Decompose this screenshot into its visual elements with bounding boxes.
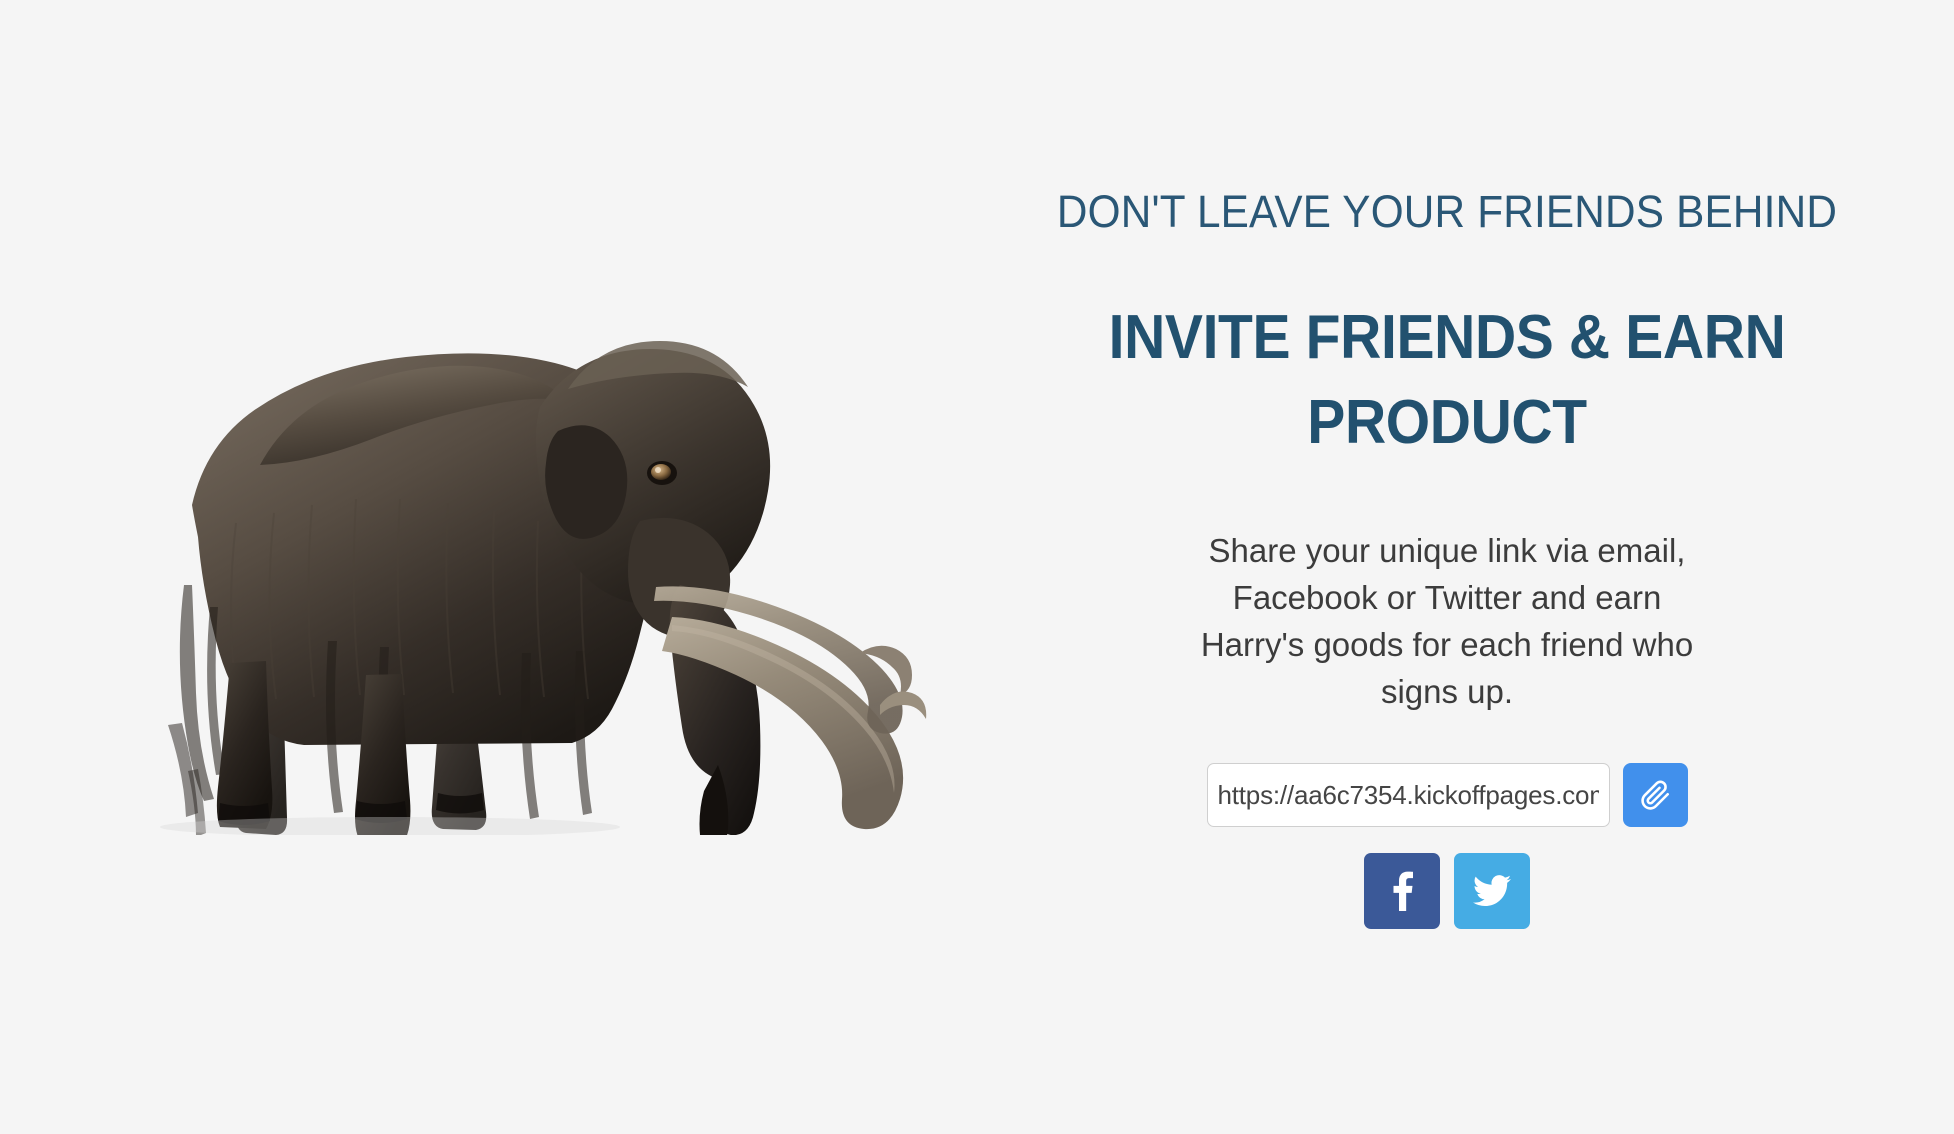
referral-content-column: DON'T LEAVE YOUR FRIENDS BEHIND INVITE F…: [940, 0, 1954, 1134]
mammoth-icon: [60, 255, 940, 835]
referral-share-page: DON'T LEAVE YOUR FRIENDS BEHIND INVITE F…: [0, 0, 1954, 1134]
eyebrow-heading: DON'T LEAVE YOUR FRIENDS BEHIND: [1015, 187, 1880, 237]
hero-illustration-area: [0, 0, 940, 1134]
facebook-icon: [1392, 871, 1413, 911]
subcopy-text: Share your unique link via email, Facebo…: [987, 528, 1907, 715]
mammoth-illustration: [60, 255, 940, 835]
copy-link-button[interactable]: [1623, 763, 1688, 827]
twitter-icon: [1473, 875, 1511, 907]
content-inner: DON'T LEAVE YOUR FRIENDS BEHIND INVITE F…: [987, 187, 1907, 930]
paperclip-icon: [1640, 780, 1671, 811]
share-facebook-button[interactable]: [1364, 853, 1440, 929]
share-twitter-button[interactable]: [1454, 853, 1530, 929]
referral-link-input[interactable]: [1207, 763, 1610, 827]
page-title: INVITE FRIENDS & EARN PRODUCT: [1024, 295, 1870, 466]
social-share-row: [987, 853, 1907, 929]
share-link-row: [987, 763, 1907, 827]
